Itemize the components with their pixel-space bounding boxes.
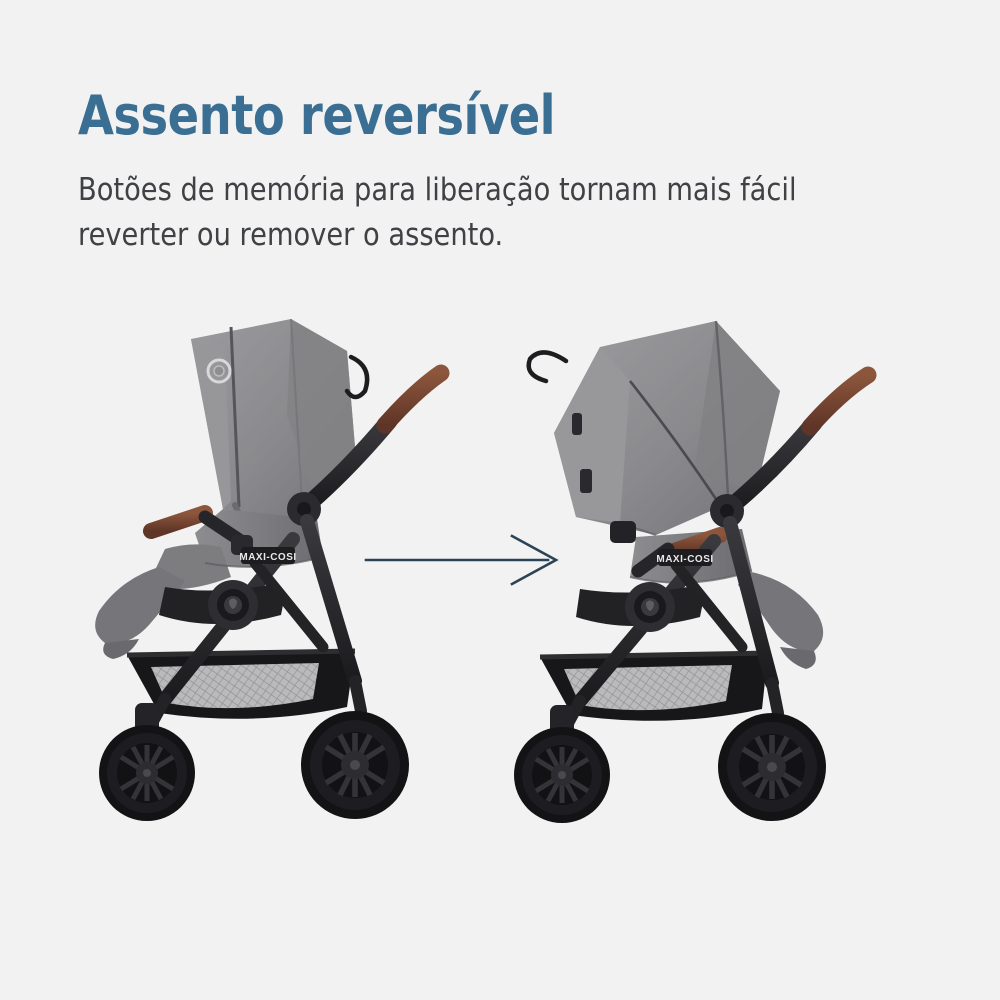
front-wheel — [514, 727, 610, 823]
handlebar-grip — [385, 373, 441, 425]
product-comparison-scene: MAXI-COSI — [0, 295, 1000, 855]
brand-label: MAXI-COSI — [239, 552, 296, 563]
brand-label: MAXI-COSI — [656, 554, 713, 565]
handlebar-grip — [810, 375, 868, 427]
front-wheel — [99, 725, 195, 821]
memory-release-button[interactable] — [625, 582, 675, 632]
canopy-strap-loop — [529, 352, 566, 381]
page-title: Assento reversível — [78, 86, 818, 146]
rear-wheel — [301, 711, 409, 819]
bumper-bar-leather — [151, 513, 205, 531]
rear-wheel — [718, 713, 826, 821]
stroller-right-world-facing: MAXI-COSI — [480, 285, 900, 855]
memory-release-button[interactable] — [208, 580, 258, 630]
canopy — [191, 319, 367, 523]
product-feature-card: Assento reversível Botões de memória par… — [0, 0, 1000, 1000]
headline-block: Assento reversível Botões de memória par… — [78, 86, 938, 258]
stroller-right-illustration: MAXI-COSI — [480, 285, 900, 855]
page-subtitle: Botões de memória para liberação tornam … — [78, 146, 835, 258]
